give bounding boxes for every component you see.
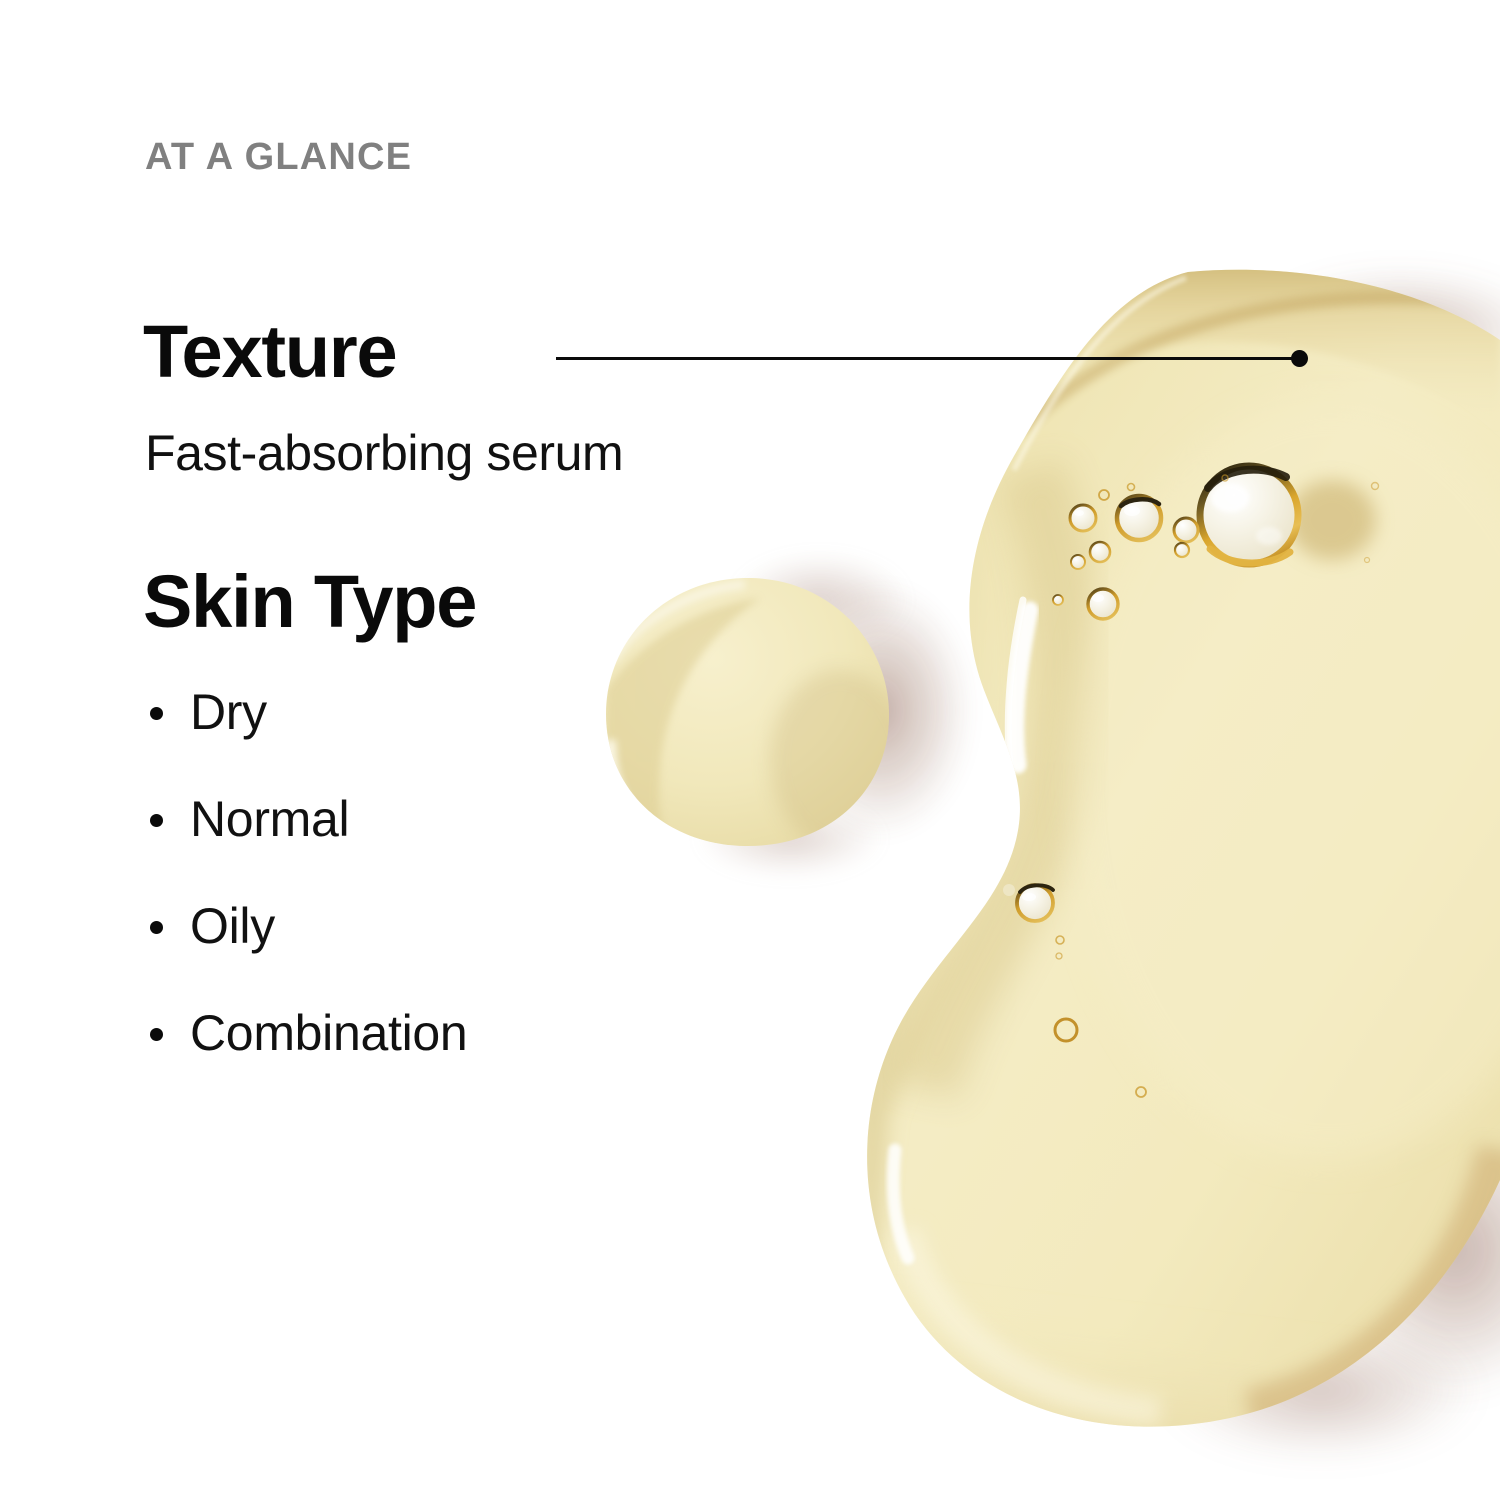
callout-line-rule [556,357,1301,360]
serum-shadows [695,270,1500,1460]
skin-type-label: Oily [190,898,275,954]
air-bubble-cluster [1003,466,1379,1097]
eyebrow-label: AT A GLANCE [145,138,412,176]
list-item: Normal [145,787,467,894]
skin-type-label: Dry [190,684,267,740]
bullet-dot-icon [150,707,163,720]
skin-type-heading: Skin Type [143,565,476,639]
bullet-dot-icon [150,814,163,827]
at-a-glance-panel: AT A GLANCE Texture Fast-absorbing serum… [0,0,1500,1500]
small-serum-droplet [600,578,910,880]
bullet-dot-icon [150,921,163,934]
list-item: Dry [145,680,467,787]
list-item: Oily [145,894,467,1001]
skin-type-list: Dry Normal Oily Combination [145,680,467,1108]
skin-type-label: Combination [190,1005,467,1061]
bullet-dot-icon [150,1028,163,1041]
large-serum-blob [860,250,1500,1460]
texture-heading: Texture [143,315,396,389]
callout-line-endpoint-dot [1291,350,1308,367]
list-item: Combination [145,1001,467,1108]
skin-type-label: Normal [190,791,349,847]
texture-callout-line [556,355,1308,362]
texture-description: Fast-absorbing serum [145,428,623,478]
